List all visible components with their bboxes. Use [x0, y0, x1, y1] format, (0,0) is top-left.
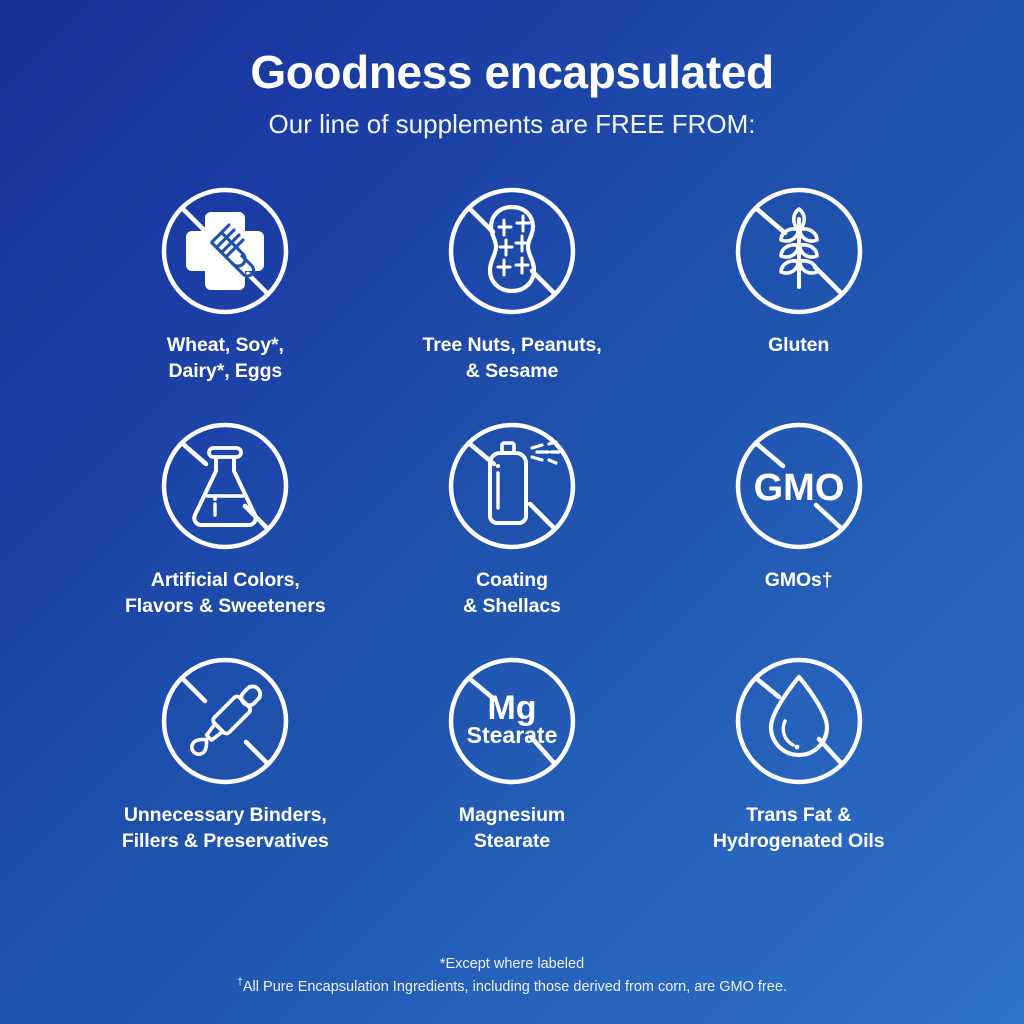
footnotes: *Except where labeled †All Pure Encapsul…: [0, 953, 1024, 998]
no-peanut-icon: [446, 185, 578, 317]
grid-item-label: Tree Nuts, Peanuts, & Sesame: [422, 333, 601, 384]
grid-item-wheat-soy-dairy-eggs: Wheat, Soy*, Dairy*, Eggs: [82, 185, 369, 420]
page-subtitle: Our line of supplements are FREE FROM:: [0, 110, 1024, 139]
grid-item-label: Wheat, Soy*, Dairy*, Eggs: [167, 333, 284, 384]
no-dropper-icon: [159, 655, 291, 787]
grid-item-gluten: Gluten: [655, 185, 942, 420]
no-spray-can-icon: [446, 420, 578, 552]
grid-item-tree-nuts-peanuts-sesame: Tree Nuts, Peanuts, & Sesame: [369, 185, 656, 420]
grid-item-magnesium-stearate: Mg Stearate Magnesium Stearate: [369, 655, 656, 890]
header: Goodness encapsulated Our line of supple…: [0, 0, 1024, 139]
no-gmo-icon: GMO: [733, 420, 865, 552]
no-magnesium-stearate-icon: Mg Stearate: [446, 655, 578, 787]
grid-item-label: Unnecessary Binders, Fillers & Preservat…: [122, 803, 329, 854]
grid-item-trans-fat-hydrogenated-oils: Trans Fat & Hydrogenated Oils: [655, 655, 942, 890]
grid-item-label: Artificial Colors, Flavors & Sweeteners: [125, 568, 326, 619]
grid-item-label: Coating & Shellacs: [463, 568, 561, 619]
stearate-inner-text: Stearate: [467, 722, 558, 748]
grid-item-binders-fillers-preservatives: Unnecessary Binders, Fillers & Preservat…: [82, 655, 369, 890]
grid-item-label: Trans Fat & Hydrogenated Oils: [713, 803, 885, 854]
grid-item-coating-shellacs: Coating & Shellacs: [369, 420, 656, 655]
gmo-inner-text: GMO: [753, 467, 844, 509]
grid-item-artificial-colors: Artificial Colors, Flavors & Sweeteners: [82, 420, 369, 655]
grid-item-label: GMOs†: [765, 568, 833, 594]
no-wheat-soy-dairy-eggs-icon: [159, 185, 291, 317]
footnote-asterisk: *Except where labeled: [0, 953, 1024, 975]
footnote-dagger-text: All Pure Encapsulation Ingredients, incl…: [243, 979, 787, 995]
page-title: Goodness encapsulated: [0, 48, 1024, 96]
promo-graphic: Goodness encapsulated Our line of supple…: [0, 0, 1024, 1024]
free-from-grid: Wheat, Soy*, Dairy*, Eggs: [82, 185, 942, 890]
no-oil-droplet-icon: [733, 655, 865, 787]
grid-item-gmos: GMO GMOs†: [655, 420, 942, 655]
footnote-dagger: †All Pure Encapsulation Ingredients, inc…: [0, 976, 1024, 998]
no-gluten-wheat-stalk-icon: [733, 185, 865, 317]
no-flask-icon: [159, 420, 291, 552]
grid-item-label: Magnesium Stearate: [459, 803, 565, 854]
grid-item-label: Gluten: [768, 333, 829, 359]
